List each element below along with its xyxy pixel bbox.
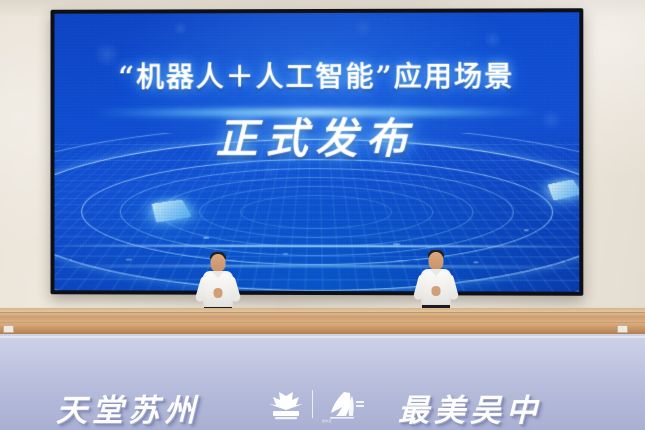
swoosh-emblem-logo: 吴中区	[322, 390, 370, 420]
screenshot-stage: “机器人＋人工智能”应用场景 正式发布	[0, 0, 645, 430]
led-screen-display: “机器人＋人工智能”应用场景 正式发布	[54, 12, 579, 291]
bokeh-dot	[353, 17, 373, 37]
wood-groove	[0, 312, 645, 313]
logo-caption: 吴中区	[322, 419, 332, 423]
wall-socket	[3, 325, 14, 333]
wall-sign-right: 最美吴中	[398, 385, 542, 430]
screen-title-sub: 正式发布	[54, 105, 579, 166]
wood-groove	[0, 322, 645, 323]
led-screen-bezel: “机器人＋人工智能”应用场景 正式发布	[51, 8, 584, 296]
head	[211, 254, 226, 272]
logo-divider	[312, 390, 313, 418]
screen-title-main: “机器人＋人工智能”应用场景	[54, 54, 579, 95]
bokeh-dot	[173, 21, 187, 35]
bokeh-dot	[483, 31, 501, 49]
wall-sign-left: 天堂苏州	[56, 385, 200, 430]
clasped-hands	[432, 286, 441, 296]
book-emblem-logo	[266, 390, 306, 420]
wall-seam	[0, 336, 645, 338]
wall-socket	[617, 325, 628, 333]
clasped-hands	[214, 288, 223, 298]
head	[429, 252, 444, 270]
